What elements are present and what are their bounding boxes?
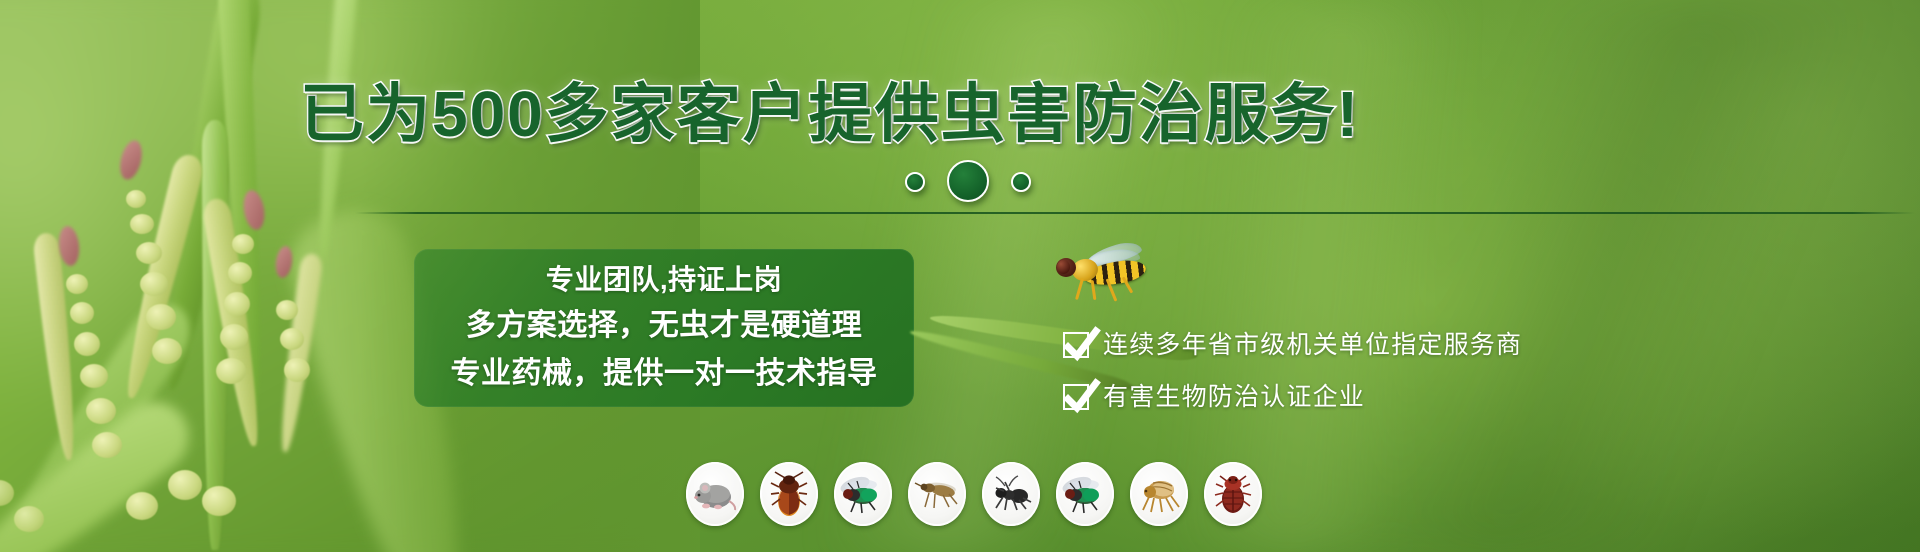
flower-bud [74, 332, 100, 356]
flower-bud [232, 234, 254, 254]
pest-icon-ant[interactable] [982, 462, 1040, 526]
flower-bud [14, 506, 44, 532]
selling-point-line-3: 专业药械，提供一对一技术指导 [414, 355, 914, 393]
flower-bud [66, 274, 88, 294]
pest-icon-cockroach[interactable] [760, 462, 818, 526]
flower-bud [280, 328, 304, 350]
flower-bud [70, 302, 94, 324]
flower-bud [168, 470, 202, 500]
fly-eye [1057, 260, 1070, 274]
pest-icon-bedbug[interactable] [1204, 462, 1262, 526]
flower-bud [140, 272, 168, 296]
certification-text: 有害生物防治认证企业 [1103, 382, 1365, 412]
flower-bud [92, 432, 122, 458]
pest-control-banner: 已为500多家客户提供虫害防治服务! 专业团队,持证上岗 多方案选择，无虫才是硬… [0, 0, 1920, 552]
flower-bud [136, 242, 162, 264]
dot-small-left-icon [905, 172, 925, 192]
flower-bud [152, 338, 182, 364]
flower-bud [228, 262, 252, 284]
fly-leg [1075, 278, 1084, 300]
flower-bud [276, 300, 298, 320]
flower-bud [130, 214, 154, 234]
pest-icon-fly[interactable] [834, 462, 892, 526]
flower-bud [224, 292, 250, 316]
list-item: 有害生物防治认证企业 [1063, 382, 1522, 412]
flower-bud [220, 324, 248, 350]
flower-bud [80, 364, 108, 388]
flower-bud [146, 304, 176, 330]
dot-large-center-icon [947, 160, 989, 202]
checkbox-checked-icon [1063, 384, 1089, 410]
flower-bud [216, 358, 246, 384]
pest-icon-mosquito[interactable] [908, 462, 966, 526]
divider [355, 212, 1915, 214]
selling-point-line-1: 专业团队,持证上岗 [414, 263, 914, 297]
flower-bud [86, 398, 116, 424]
pest-type-list [686, 462, 1262, 526]
pest-icon-mouse[interactable] [686, 462, 744, 526]
flower-bud [126, 492, 158, 520]
pest-icon-flea[interactable] [1130, 462, 1188, 526]
dot-small-right-icon [1011, 172, 1031, 192]
certification-text: 连续多年省市级机关单位指定服务商 [1103, 330, 1522, 360]
flower-bud [284, 358, 310, 382]
selling-points-panel: 专业团队,持证上岗 多方案选择，无虫才是硬道理 专业药械，提供一对一技术指导 [414, 249, 914, 407]
hoverfly-icon [1048, 244, 1166, 304]
list-item: 连续多年省市级机关单位指定服务商 [1063, 330, 1522, 360]
checkbox-checked-icon [1063, 332, 1089, 358]
decorative-dots [905, 158, 1105, 206]
flower-bud [126, 190, 146, 208]
flower-bud [202, 486, 236, 516]
page-title: 已为500多家客户提供虫害防治服务! [300, 78, 1300, 150]
selling-point-line-2: 多方案选择，无虫才是硬道理 [414, 307, 914, 345]
pest-icon-blowfly[interactable] [1056, 462, 1114, 526]
certification-list: 连续多年省市级机关单位指定服务商 有害生物防治认证企业 [1063, 330, 1522, 412]
